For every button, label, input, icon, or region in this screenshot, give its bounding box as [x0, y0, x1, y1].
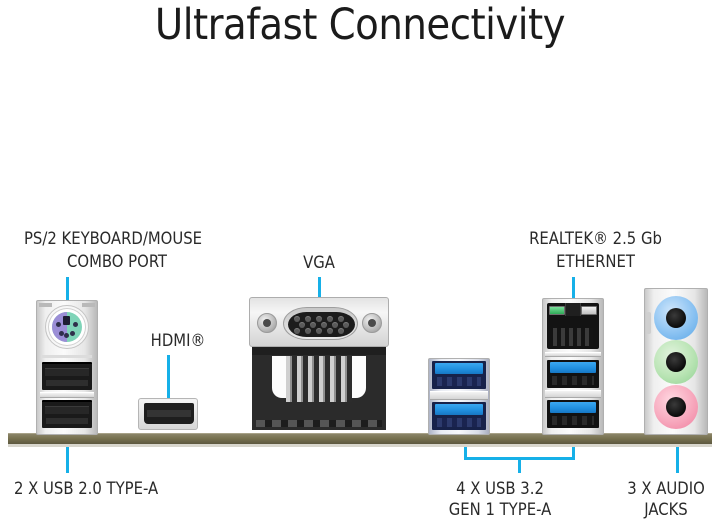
vga-plate-base: [252, 347, 386, 355]
stack-rib: [42, 355, 92, 358]
usb3-teeth: [552, 416, 594, 426]
callout-label-audio-line1: 3 X AUDIO: [612, 478, 720, 499]
usb2-tab: [45, 368, 89, 376]
usb2-port-bottom[interactable]: [42, 400, 92, 428]
usb3-teeth: [437, 418, 480, 428]
callout-label-ps2-line2: COMBO PORT: [0, 251, 167, 272]
ps2-port-face: [52, 312, 82, 342]
callout-label-vga: VGA: [262, 252, 376, 273]
ps2-pin: [56, 322, 61, 327]
vga-dsub-frame: [283, 307, 358, 340]
audio-stack-clip: [646, 312, 651, 334]
vga-screw-left: [257, 313, 277, 333]
ethernet-led-grey: [581, 306, 597, 315]
audio-jack-hole: [666, 397, 686, 417]
ps2-pin: [64, 333, 69, 338]
usb3-blue-contact: [435, 404, 483, 415]
page-title: Ultrafast Connectivity: [0, 0, 720, 50]
vga-screw-right: [362, 313, 382, 333]
vga-dsub-inner: [288, 312, 355, 337]
ps2-key-slot: [63, 316, 70, 325]
usb3-blue-contact: [550, 362, 596, 373]
vga-pcb-strip: [256, 420, 382, 427]
ethernet-usb3-divider-bottom: [545, 390, 601, 398]
usb3-blue-contact: [550, 402, 596, 413]
callout-label-ps2-line1: PS/2 KEYBOARD/MOUSE: [0, 228, 202, 249]
motherboard-pcb-bar: [8, 433, 712, 444]
usb3-port-eth-bottom[interactable]: [547, 400, 599, 428]
hdmi-port-shell[interactable]: [138, 398, 198, 430]
callout-label-ethernet-line2: ETHERNET: [488, 251, 703, 272]
audio-jack-microphone[interactable]: [654, 385, 698, 429]
callout-label-hdmi: HDMI®: [118, 330, 238, 351]
leader-line-usb3-stem: [518, 457, 521, 473]
callout-label-usb3-line2: GEN 1 TYPE-A: [410, 499, 590, 520]
stack-clip-right: [82, 303, 95, 307]
usb2-tab: [45, 406, 89, 414]
ethernet-led-green: [549, 306, 565, 315]
usb2-stack-divider: [40, 392, 94, 398]
usb3-standalone-divider: [430, 391, 488, 400]
motherboard-pcb-shadow: [8, 444, 712, 447]
usb3-port-standalone-bottom[interactable]: [432, 402, 486, 430]
callout-label-ethernet-line1: REALTEK® 2.5 Gb: [488, 228, 703, 249]
callout-label-usb2: 2 X USB 2.0 TYPE-A: [14, 478, 254, 499]
audio-jack-line-out[interactable]: [654, 340, 698, 384]
vga-port-plate[interactable]: [249, 297, 389, 347]
vga-fin-contacts: [286, 356, 352, 402]
callout-label-audio-line2: JACKS: [612, 499, 720, 520]
usb3-teeth: [437, 377, 480, 387]
ethernet-usb3-divider-top: [545, 352, 601, 357]
usb2-port-top[interactable]: [42, 362, 92, 390]
hdmi-port-inner: [144, 403, 194, 424]
audio-jack-line-in[interactable]: [654, 296, 698, 340]
usb3-blue-contact: [435, 363, 483, 374]
usb3-port-eth-top[interactable]: [547, 360, 599, 388]
ps2-pin: [73, 322, 78, 327]
callout-label-usb3-line1: 4 X USB 3.2: [410, 478, 590, 499]
rj45-notch: [565, 303, 582, 316]
stack-clip-left: [39, 303, 52, 307]
usb3-teeth: [552, 376, 594, 386]
audio-jack-hole: [666, 308, 686, 328]
rj45-contacts: [553, 328, 593, 346]
audio-jack-hole: [666, 352, 686, 372]
ps2-pin: [70, 331, 75, 336]
io-panel-diagram: Ultrafast Connectivity PS/2 KEYBOARD/MOU…: [0, 0, 720, 519]
usb3-port-standalone-top[interactable]: [432, 361, 486, 389]
